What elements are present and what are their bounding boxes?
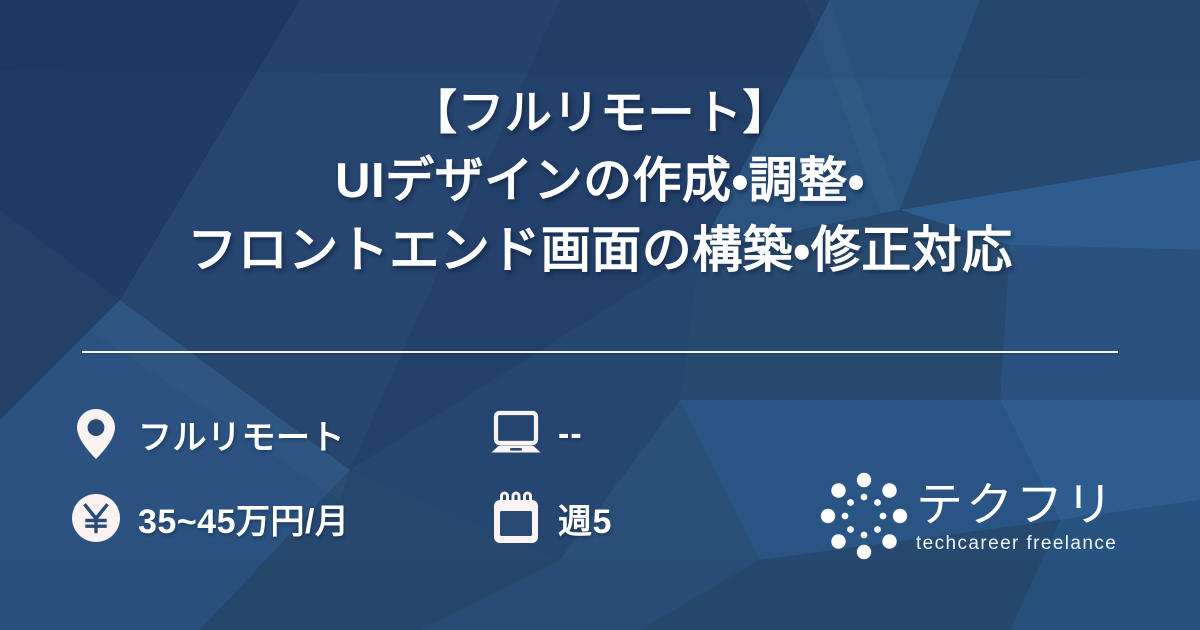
title-line-3: フロントエンド画面の構築・修正対応	[0, 216, 1200, 285]
laptop-icon	[488, 406, 544, 462]
page-title: 【フルリモート】 UIデザインの作成・調整・ フロントエンド画面の構築・修正対応	[0, 78, 1200, 285]
meta-item-workdays: 週5	[488, 490, 768, 546]
meta-item-location: フルリモート	[68, 406, 488, 462]
meta-value-salary: 35~45万円/月	[138, 494, 349, 543]
calendar-icon	[488, 490, 544, 546]
divider-rule	[82, 351, 1118, 353]
brand-tagline-en: techcareer freelance	[916, 533, 1119, 555]
meta-item-worktype: --	[488, 406, 768, 462]
meta-row: フルリモート --	[68, 392, 768, 476]
title-line-2: UIデザインの作成・調整・	[0, 147, 1200, 216]
ogp-banner: 【フルリモート】 UIデザインの作成・調整・ フロントエンド画面の構築・修正対応…	[0, 0, 1200, 630]
location-pin-icon	[68, 406, 124, 462]
meta-value-workdays: 週5	[558, 494, 612, 543]
meta-item-salary: 35~45万円/月	[68, 490, 488, 546]
brand-logo: テクフリ techcareer freelance	[818, 466, 1138, 566]
dot-ring-logo-mark-icon	[818, 470, 910, 562]
title-line-1: 【フルリモート】	[0, 78, 1200, 147]
brand-logo-text: テクフリ techcareer freelance	[916, 478, 1119, 555]
yen-circle-icon	[68, 490, 124, 546]
brand-name-jp: テクフリ	[916, 480, 1119, 530]
meta-value-worktype: --	[558, 415, 583, 454]
job-meta-grid: フルリモート --	[68, 392, 768, 560]
meta-value-location: フルリモート	[138, 410, 345, 459]
meta-row: 35~45万円/月 週5	[68, 476, 768, 560]
